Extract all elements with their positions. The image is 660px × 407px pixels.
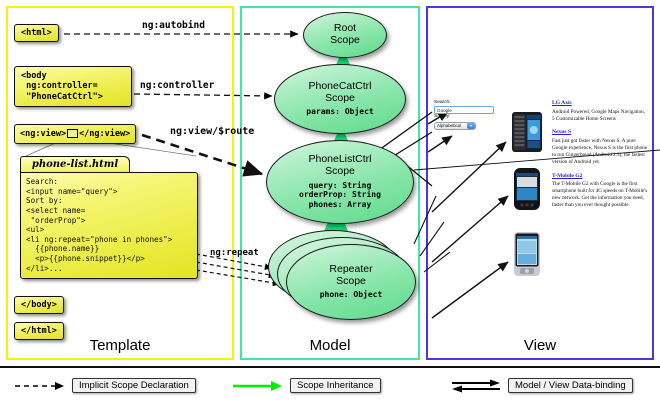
html-close-tag-box: </html> [14, 322, 64, 340]
phone-list-note-code: Search: <input name="query"> Sort by: <s… [20, 172, 198, 279]
list-item[interactable]: LG Axis Android Powered, Google Maps Nav… [552, 100, 648, 122]
list-item[interactable]: T-Mobile G2 The T-Mobile G2 with Google … [552, 173, 648, 209]
legend-item-data-binding: Model / View Data-binding [450, 378, 633, 393]
panel-view-label: View [428, 337, 652, 354]
dashed-arrow-icon [14, 379, 66, 393]
scope-repeater-props: phone: Object [320, 290, 383, 300]
phone-snippet: The T-Mobile G2 with Google is the first… [552, 181, 648, 208]
scope-phonecatctrl-title-line2: Scope [325, 93, 355, 105]
scope-repeater-group: Repeater Scope phone: Object [268, 230, 418, 322]
phone-thumbnail-lg-axis [512, 110, 542, 154]
legend-label-implicit-scope: Implicit Scope Declaration [72, 378, 196, 393]
phone-name-link[interactable]: T-Mobile G2 [552, 173, 648, 180]
scope-phonelistctrl-title-line2: Scope [325, 166, 355, 178]
html-open-tag-box: <html> [14, 24, 59, 42]
list-item[interactable]: Nexus S Fast just got faster with Nexus … [552, 129, 648, 165]
body-close-tag-box: </body> [14, 296, 64, 314]
phone-snippet: Android Powered, Google Maps Navigation,… [552, 109, 648, 123]
phone-thumbnail-tmobile-g2 [514, 232, 540, 276]
scope-root: Root Scope [303, 12, 387, 58]
legend-label-scope-inheritance: Scope Inheritance [290, 378, 381, 393]
diagram-canvas: Template Model View [0, 0, 660, 405]
phone-list: LG Axis Android Powered, Google Maps Nav… [552, 100, 648, 216]
ngview-tag-box: <ng:view></ng:view> [14, 124, 136, 144]
body-controller-box: <body ng:controller= "PhoneCatCtrl"> [14, 66, 132, 107]
phone-thumbnail-nexus-s [514, 168, 540, 210]
legend-item-scope-inheritance: Scope Inheritance [232, 378, 381, 393]
scope-repeater: Repeater Scope phone: Object [286, 244, 416, 320]
scope-phonecatctrl-props: params: Object [306, 107, 373, 117]
phone-snippet: Fast just got faster with Nexus S. A pur… [552, 138, 648, 165]
ngview-close-label: </ng:view> [79, 129, 130, 139]
phone-name-link[interactable]: Nexus S [552, 129, 648, 136]
sort-select-value: Alphabetical [437, 122, 461, 129]
phone-name-link[interactable]: LG Axis [552, 100, 648, 107]
edge-label-repeat: ng:repeat [210, 248, 259, 258]
scope-repeater-title-line2: Scope [336, 276, 366, 288]
chevron-down-icon: ▾ [467, 122, 475, 129]
green-arrow-icon [232, 379, 284, 393]
scope-phonelistctrl-props: query: String orderProp: String phones: … [299, 181, 381, 210]
scope-phonecatctrl: PhoneCatCtrl Scope params: Object [274, 64, 406, 134]
edge-label-controller: ng:controller [140, 80, 214, 91]
view-search-form: Search: Google Sort by: Alphabetical ▾ [434, 100, 496, 130]
legend: Implicit Scope Declaration Scope Inherit… [0, 366, 660, 407]
phone-list-note-title: phone-list.html [20, 156, 130, 173]
ngview-open-label: <ng:view> [20, 129, 66, 139]
edge-label-autobind: ng:autobind [142, 20, 205, 31]
sort-select[interactable]: Alphabetical ▾ [434, 122, 476, 130]
legend-label-data-binding: Model / View Data-binding [508, 378, 633, 393]
panel-model-label: Model [242, 337, 418, 354]
scope-phonecatctrl-title-line1: PhoneCatCtrl [308, 81, 371, 93]
legend-item-implicit-scope: Implicit Scope Declaration [14, 378, 196, 393]
double-arrow-icon [450, 379, 502, 393]
scope-repeater-title-line1: Repeater [329, 264, 372, 276]
edge-label-route: ng:view/$route [170, 126, 254, 137]
phone-list-note: phone-list.html Search: <input name="que… [20, 156, 198, 279]
sort-label: Sort by: [434, 114, 496, 120]
scope-phonelistctrl: PhoneListCtrl Scope query: String orderP… [266, 140, 414, 224]
scope-root-title-line2: Scope [330, 35, 360, 47]
ngview-placeholder-icon [67, 129, 78, 138]
